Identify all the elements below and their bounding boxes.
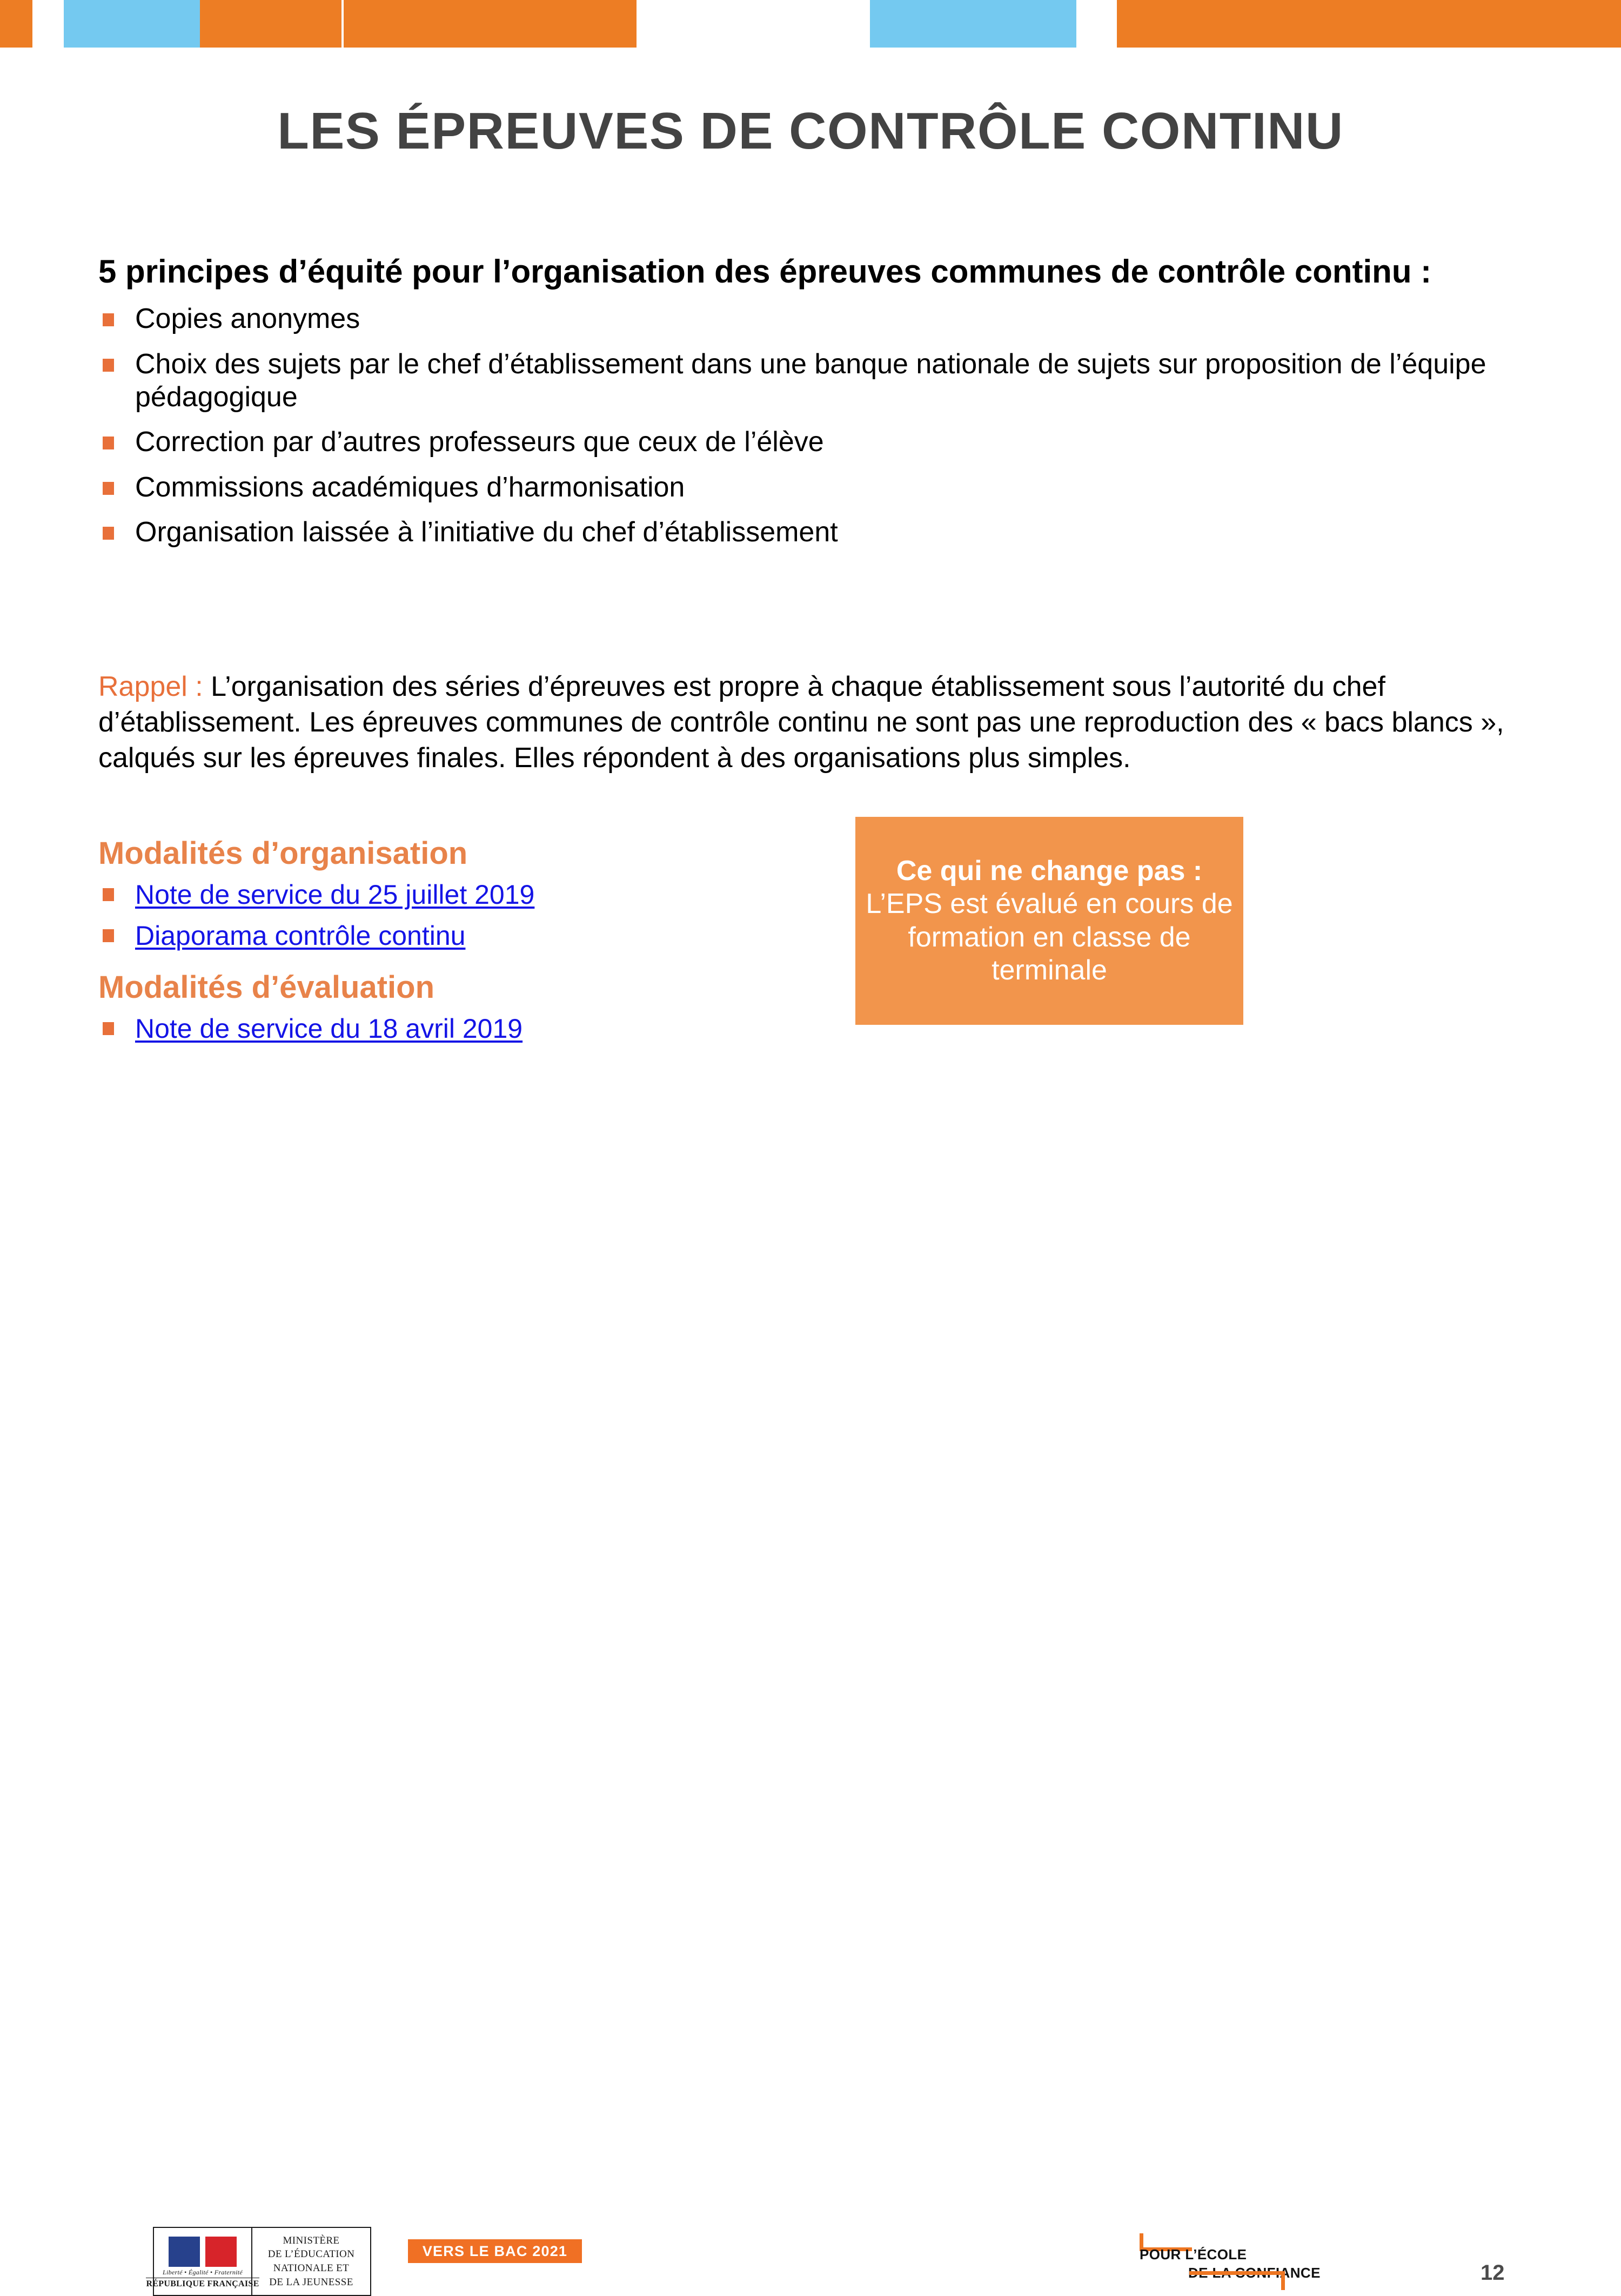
footer: Liberté • Égalité • Fraternité RÉPUBLIQU… <box>0 1107 1621 1216</box>
list-item-label: Commissions académiques d’harmonisation <box>135 472 685 503</box>
list-item: Organisation laissée à l’initiative du c… <box>98 516 1546 549</box>
band-block-blue-1 <box>64 0 200 48</box>
square-bullet-icon <box>103 1022 114 1035</box>
ministry-name-line: MINISTÈRE <box>268 2234 355 2248</box>
main-content: 5 principes d’équité pour l’organisation… <box>98 253 1546 549</box>
band-block-orange-1 <box>0 0 32 48</box>
principles-list: Copies anonymes Choix des sujets par le … <box>98 303 1546 549</box>
ministry-name-line: NATIONALE ET <box>268 2261 355 2275</box>
callout-text: Ce qui ne change pas : L’EPS est évalué … <box>863 855 1236 987</box>
decorative-top-band <box>0 0 1621 48</box>
ministry-logo: Liberté • Égalité • Fraternité RÉPUBLIQU… <box>153 2227 371 2296</box>
republique-francaise-block: Liberté • Égalité • Fraternité RÉPUBLIQU… <box>154 2228 252 2295</box>
page-number: 12 <box>1481 2261 1505 2285</box>
modalites-evaluation-links: Note de service du 18 avril 2019 <box>98 1012 822 1045</box>
ministry-name: MINISTÈRE DE L’ÉDUCATION NATIONALE ET DE… <box>268 2234 355 2290</box>
square-bullet-icon <box>103 482 114 495</box>
callout-box: Ce qui ne change pas : L’EPS est évalué … <box>855 817 1243 1025</box>
square-bullet-icon <box>103 527 114 540</box>
ministry-name-line: DE LA JEUNESSE <box>268 2275 355 2290</box>
band-block-orange-2 <box>200 0 341 48</box>
modalites-organisation-links: Note de service du 25 juillet 2019 Diapo… <box>98 878 822 952</box>
rappel-label: Rappel : <box>98 671 203 702</box>
confiance-line-1: POUR L’ÉCOLE <box>1140 2246 1247 2263</box>
square-bullet-icon <box>103 359 114 372</box>
callout-body: L’EPS est évalué en cours de formation e… <box>866 888 1233 986</box>
republique-francaise-label: RÉPUBLIQUE FRANÇAISE <box>146 2278 259 2289</box>
link-note-de-service-18-avril-2019[interactable]: Note de service du 18 avril 2019 <box>135 1013 523 1044</box>
list-item: Diaporama contrôle continu <box>98 919 822 952</box>
ecole-de-la-confiance-logo: POUR L’ÉCOLE DE LA CONFIANCE <box>1136 2226 1352 2296</box>
list-item-label: Correction par d’autres professeurs que … <box>135 426 824 458</box>
vers-le-bac-label: VERS LE BAC 2021 <box>423 2243 567 2260</box>
link-note-de-service-25-juillet-2019[interactable]: Note de service du 25 juillet 2019 <box>135 880 534 910</box>
bracket-bottom-icon <box>1189 2271 1285 2290</box>
rappel-body: L’organisation des séries d’épreuves est… <box>98 671 1504 774</box>
rappel-paragraph: Rappel : L’organisation des séries d’épr… <box>98 669 1525 776</box>
list-item-label: Organisation laissée à l’initiative du c… <box>135 516 838 548</box>
list-item: Correction par d’autres professeurs que … <box>98 426 1546 459</box>
list-item: Copies anonymes <box>98 303 1546 335</box>
square-bullet-icon <box>103 313 114 326</box>
list-item-label: Copies anonymes <box>135 303 360 334</box>
square-bullet-icon <box>103 929 114 942</box>
lead-heading: 5 principes d’équité pour l’organisation… <box>98 253 1482 291</box>
square-bullet-icon <box>103 888 114 901</box>
ministry-name-line: DE L’ÉDUCATION <box>268 2247 355 2261</box>
vers-le-bac-badge: VERS LE BAC 2021 <box>408 2239 582 2263</box>
devise-label: Liberté • Égalité • Fraternité <box>163 2268 243 2277</box>
ministry-name-block: MINISTÈRE DE L’ÉDUCATION NATIONALE ET DE… <box>252 2228 370 2295</box>
list-item: Choix des sujets par le chef d’établisse… <box>98 348 1546 414</box>
callout-title: Ce qui ne change pas : <box>896 855 1202 887</box>
band-block-orange-3 <box>344 0 637 48</box>
band-block-blue-3 <box>870 0 1076 48</box>
page-title: LES ÉPREUVES DE CONTRÔLE CONTINU <box>0 102 1621 161</box>
list-item: Commissions académiques d’harmonisation <box>98 471 1546 504</box>
band-block-orange-4 <box>1117 0 1621 48</box>
list-item-label: Choix des sujets par le chef d’établisse… <box>135 348 1486 413</box>
modalites-organisation-heading: Modalités d’organisation <box>98 836 822 871</box>
link-diaporama-controle-continu[interactable]: Diaporama contrôle continu <box>135 921 465 951</box>
square-bullet-icon <box>103 437 114 449</box>
list-item: Note de service du 18 avril 2019 <box>98 1012 822 1045</box>
marianne-flag-icon <box>169 2237 237 2267</box>
modalites-section: Modalités d’organisation Note de service… <box>98 836 822 1053</box>
list-item: Note de service du 25 juillet 2019 <box>98 878 822 911</box>
modalites-evaluation-heading: Modalités d’évaluation <box>98 970 822 1005</box>
